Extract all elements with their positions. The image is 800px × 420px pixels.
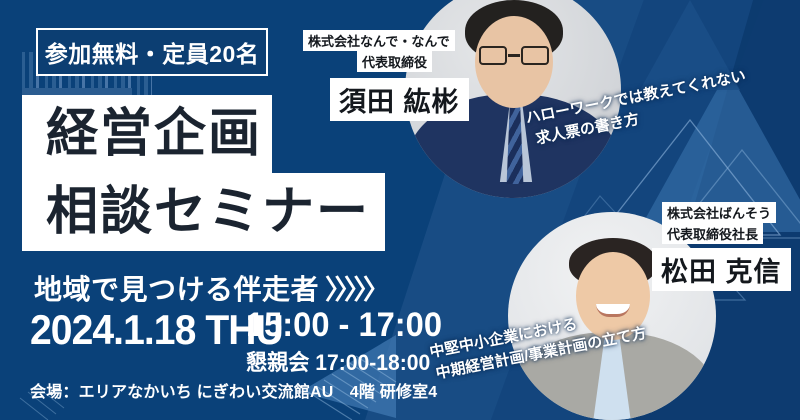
speaker-1-role: 代表取締役	[357, 51, 432, 72]
speaker-2-name: 松田 克信	[652, 248, 791, 291]
speaker-1-company: 株式会社なんで・なんで	[303, 30, 455, 51]
title-block-line2: 相談セミナー	[22, 173, 385, 251]
page-title-line1: 経営企画	[46, 108, 262, 160]
page-title-line2: 相談セミナー	[46, 186, 370, 238]
glasses-icon	[479, 46, 549, 65]
event-venue: 会場：エリアなかいち にぎわい交流館AU 4階 研修室4	[30, 378, 437, 402]
seminar-poster: 参加無料・定員20名 経営企画 相談セミナー 地域で見つける伴走者〉〉〉〉〉 2…	[0, 0, 800, 420]
tagline: 地域で見つける伴走者〉〉〉〉〉	[34, 268, 386, 308]
badge-label: 参加無料・定員20名	[45, 35, 260, 69]
chevron-right-icon: 〉〉〉〉〉	[325, 275, 386, 305]
event-time-main: 15:00 - 17:00	[246, 306, 442, 345]
tagline-text: 地域で見つける伴走者	[34, 274, 319, 305]
event-date: 2024.1.18 THU	[30, 306, 283, 354]
speaker-1-name: 須田 紘彬	[330, 78, 469, 121]
left-edge-bar	[0, 265, 14, 420]
speaker-2-role: 代表取締役社長	[662, 223, 763, 244]
title-block-line1: 経営企画	[22, 95, 272, 173]
free-admission-badge: 参加無料・定員20名	[36, 28, 268, 76]
speaker-2-company: 株式会社ばんそう	[662, 202, 776, 223]
event-time-social: 懇親会 17:00-18:00	[246, 345, 430, 377]
